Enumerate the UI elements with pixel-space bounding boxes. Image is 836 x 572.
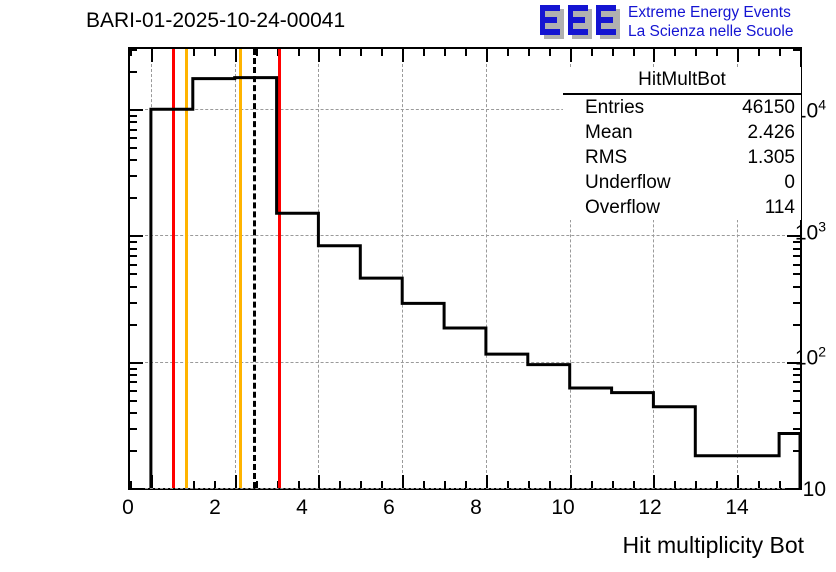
eee-logo-line1: Extreme Energy Events [628,3,832,22]
stats-key: Mean [585,120,633,145]
plot-canvas: BARI-01-2025-10-24-00041 Extreme Energy … [0,0,836,572]
eee-logo-line2: La Scienza nelle Scuole [628,22,832,41]
stats-value: 2.426 [747,120,795,145]
stats-value: 1.305 [747,145,795,170]
x-tick-label-2: 2 [209,496,221,520]
stats-value: 46150 [742,95,795,120]
x-tick-label-4: 4 [296,496,308,520]
stats-rows: Entries46150Mean2.426RMS1.305Underflow0O… [563,95,801,220]
stats-row: Underflow0 [563,170,801,195]
x-tick-label-8: 8 [470,496,482,520]
stats-row: Entries46150 [563,95,801,120]
stats-row: Overflow114 [563,195,801,220]
x-tick-label-12: 12 [638,496,661,520]
stats-value: 114 [765,195,795,220]
x-tick-label-10: 10 [551,496,574,520]
stats-title: HitMultBot [563,67,801,95]
stats-key: RMS [585,145,627,170]
axis-tick [787,488,800,490]
stats-box: HitMultBot Entries46150Mean2.426RMS1.305… [563,67,801,220]
stats-key: Entries [585,95,644,120]
stats-value: 0 [784,170,795,195]
eee-logo-mark-icon [540,5,622,41]
axis-tick [800,49,802,56]
gridline-horizontal [130,488,800,489]
stats-row: Mean2.426 [563,120,801,145]
x-tick-label-14: 14 [725,496,748,520]
stats-key: Underflow [585,170,671,195]
eee-logo-text: Extreme Energy Events La Scienza nelle S… [628,3,832,41]
eee-logo: Extreme Energy Events La Scienza nelle S… [540,3,832,44]
x-tick-label-0: 0 [122,496,134,520]
page-title: BARI-01-2025-10-24-00041 [86,9,345,33]
x-tick-label-6: 6 [383,496,395,520]
y-tick-label-10: 10 [803,478,826,502]
stats-key: Overflow [585,195,660,220]
stats-row: RMS1.305 [563,145,801,170]
axis-tick [130,488,143,490]
x-axis-title: Hit multiplicity Bot [623,532,804,559]
